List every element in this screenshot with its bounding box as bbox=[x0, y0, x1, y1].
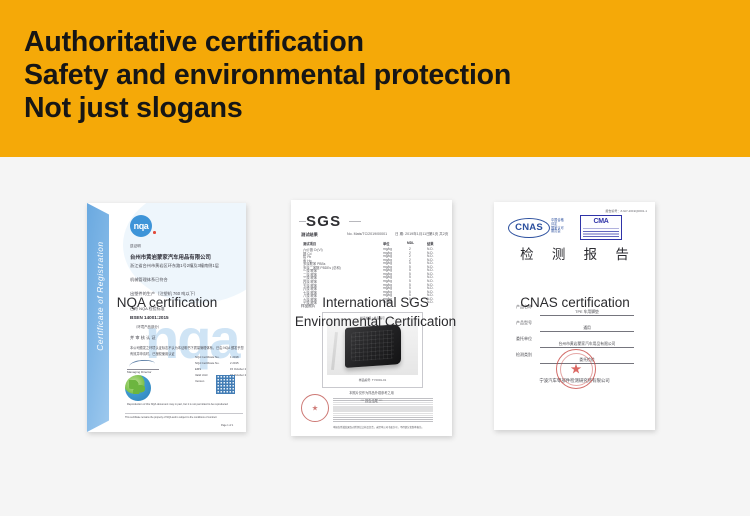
caption-cnas: CNAS certification bbox=[470, 293, 680, 312]
nqa-info-label: EMS bbox=[195, 367, 201, 371]
nqa-text-line: 台州市黄岩蒙家汽车用品有限公司 bbox=[130, 253, 211, 261]
nqa-page-number: Page 1 of 1 bbox=[221, 424, 233, 427]
sgs-logo-rule-left bbox=[299, 221, 306, 222]
cnas-logo-icon: CNAS bbox=[508, 218, 550, 238]
cnas-field-row: 产品型号 通用 bbox=[516, 319, 634, 333]
sgs-logo-rule-right bbox=[349, 221, 361, 222]
nqa-text-line: 本公司颁发之环境认证标志不认为本证明书下质量管理体系，已由 NQA 颁发予您 bbox=[130, 345, 244, 350]
banner-heading-group: Authoritative certification Safety and e… bbox=[24, 26, 511, 125]
cnas-field-rule bbox=[540, 315, 634, 316]
cnas-field-label: 检测类别 bbox=[516, 352, 532, 358]
certificates-gallery: Certificate of Registration nqa nqa 兹证明 … bbox=[0, 157, 750, 516]
caption-nqa-text: NQA certification bbox=[117, 295, 218, 310]
banner-line-1: Authoritative certification bbox=[24, 26, 511, 59]
banner-line-3: Not just slogans bbox=[24, 92, 511, 125]
nqa-document-body: nqa nqa 兹证明 台州市黄岩蒙家汽车用品有限公司 浙江省台州市黄岩区环东路… bbox=[113, 203, 242, 432]
cnas-field-rule bbox=[540, 347, 634, 348]
nqa-signature bbox=[127, 359, 159, 370]
nqa-text-line: （环境产品部分） bbox=[134, 324, 161, 329]
sgs-footer-text: 本报告所载结果仅对所测试之样品负责，未经本公司书面许可，不得部分复制本报告。 bbox=[333, 425, 424, 429]
sgs-report-no: No. Mats/TC/2019/00001 bbox=[347, 232, 387, 236]
sgs-report-date: 日 期: 2019年1月11日 bbox=[395, 232, 430, 237]
caption-cnas-text: CNAS certification bbox=[520, 295, 630, 310]
nqa-info-value: 1 2018 bbox=[230, 355, 239, 359]
cnas-field-label: 产品型号 bbox=[516, 320, 532, 326]
cnas-logo-subtext: 中国合格 评定 国家认可 委员会 bbox=[551, 219, 564, 234]
banner-line-2: Safety and environmental protection bbox=[24, 59, 511, 92]
nqa-text-line: 并 审 核 认 证 bbox=[130, 335, 156, 341]
nqa-divider bbox=[125, 413, 243, 414]
nqa-info-value: 2 2015 bbox=[230, 361, 239, 365]
header-banner: Authoritative certification Safety and e… bbox=[0, 0, 750, 157]
nqa-info-value: 15 October 2018 bbox=[230, 367, 246, 371]
cnas-field-value: 通用 bbox=[540, 326, 634, 331]
nqa-globe-icon bbox=[125, 375, 151, 401]
cnas-field-row: 委托单位 台州市黄岩蒙家汽车用品有限公司 bbox=[516, 335, 634, 349]
nqa-qr-code-icon bbox=[216, 375, 235, 394]
nqa-info-label: Version bbox=[195, 379, 204, 383]
sgs-red-stamp-icon bbox=[301, 394, 329, 422]
sgs-table-header-unit: 单位 bbox=[383, 241, 390, 246]
cnas-report-number: 报告编号：ZJHY-2019Q0001-1 bbox=[605, 209, 647, 213]
nqa-info-label: NQA Certificate No. bbox=[195, 361, 219, 365]
caption-sgs: International SGS Environmental Certific… bbox=[258, 293, 493, 331]
nqa-text-line: 浙江省台州市黄岩区环东路1号2幢及3幢南侧1层 bbox=[130, 263, 219, 269]
caption-nqa: NQA certification bbox=[62, 293, 272, 312]
nqa-text-line: 兹证明 bbox=[130, 244, 141, 249]
sgs-logo-icon: SGS bbox=[306, 213, 341, 230]
certificate-image-nqa[interactable]: Certificate of Registration nqa nqa 兹证明 … bbox=[87, 203, 246, 432]
sgs-report-label: 测试结果 bbox=[301, 232, 318, 238]
sgs-report-page: 第1页 共2页 bbox=[429, 232, 448, 237]
nqa-logo-dot-icon bbox=[153, 231, 156, 234]
cnas-red-stamp-icon bbox=[556, 349, 596, 389]
nqa-sidebar-band: Certificate of Registration bbox=[87, 203, 109, 432]
cnas-field-label: 委托单位 bbox=[516, 336, 532, 342]
nqa-signature-label: Managing Director bbox=[127, 370, 152, 374]
sgs-photo-caption-bottom: 样品编号: TY0001-01 bbox=[323, 378, 422, 382]
cnas-cma-seal-icon: CMA bbox=[580, 215, 622, 240]
caption-sgs-line-2: Environmental Certification bbox=[258, 312, 493, 331]
cnas-cma-fineprint bbox=[583, 227, 619, 237]
sgs-table-header-result: 结果 bbox=[427, 241, 434, 246]
nqa-info-label: NQA Certificate No. bbox=[195, 355, 219, 359]
nqa-info-label: Valid Until bbox=[195, 373, 207, 377]
sgs-table-header-item: 测试项目 bbox=[303, 241, 316, 246]
caption-sgs-line-1: International SGS bbox=[258, 293, 493, 312]
nqa-footer-note: Reproduction of this NQA document may in… bbox=[127, 403, 228, 406]
cnas-field-rule bbox=[540, 331, 634, 332]
nqa-text-line: 有效并申请时，已授权使用认证 bbox=[130, 351, 175, 356]
cnas-logo-subtext-line: 委员会 bbox=[551, 230, 564, 234]
sgs-ruler-icon bbox=[331, 332, 338, 370]
cnas-report-title: 检 测 报 告 bbox=[494, 243, 655, 263]
nqa-text-line: 机械管理体系已符合 bbox=[130, 277, 168, 283]
sgs-table-header-mdl: MDL bbox=[407, 241, 414, 245]
cnas-field-value: 台州市黄岩蒙家汽车用品有限公司 bbox=[540, 342, 634, 347]
nqa-logo-icon: nqa bbox=[130, 215, 152, 237]
nqa-bottom-left-note: This certificate remains the property of… bbox=[125, 416, 217, 419]
sgs-footer-fineprint-block bbox=[333, 398, 433, 422]
cnas-cma-label: CMA bbox=[581, 218, 621, 225]
nqa-text-line: BSEN 14001:2015 bbox=[130, 315, 169, 320]
certificate-image-cnas[interactable]: 报告编号：ZJHY-2019Q0001-1 CNAS 中国合格 评定 国家认可 … bbox=[494, 202, 655, 430]
